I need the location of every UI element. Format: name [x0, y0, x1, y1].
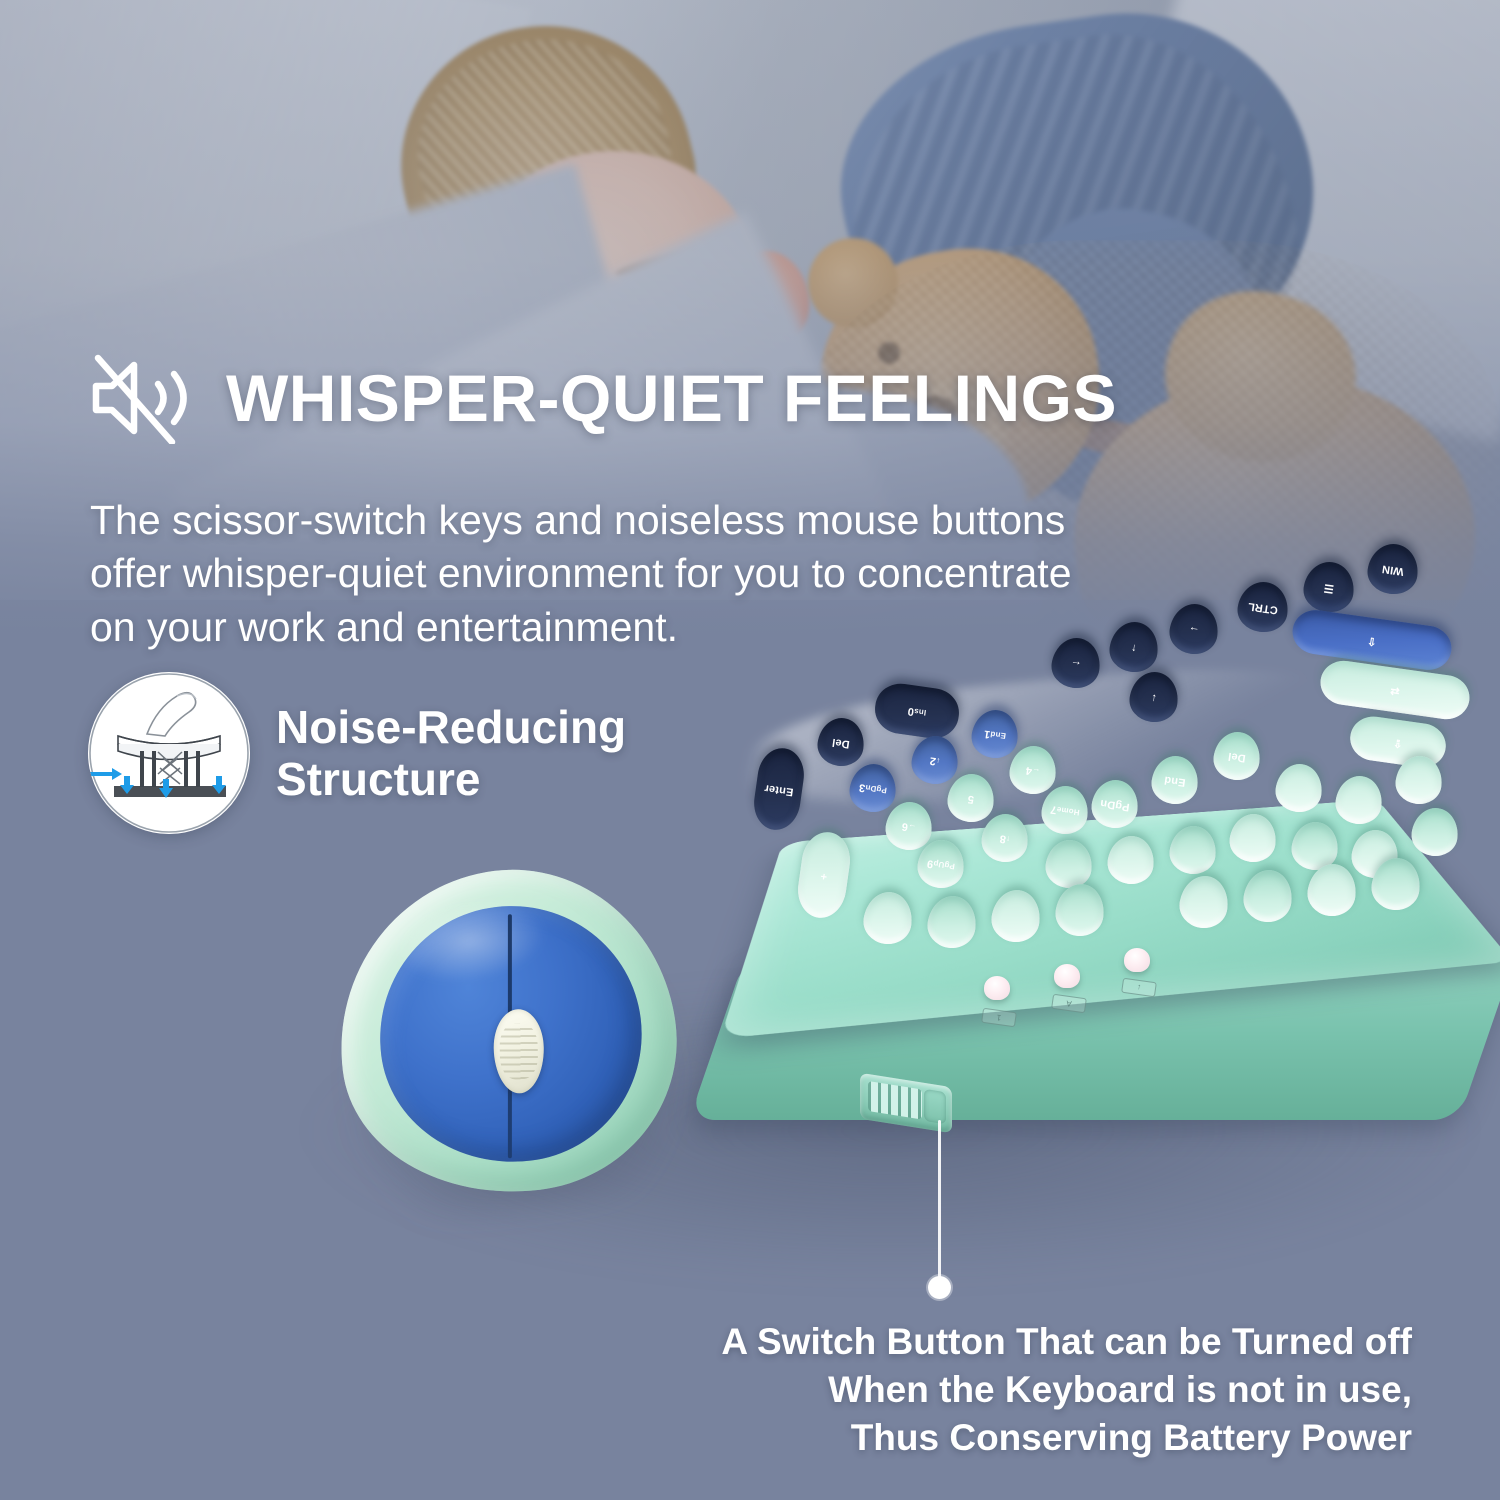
keycap-7[interactable]: Home7: [1039, 783, 1091, 837]
scroll-lock-led: [1124, 948, 1150, 972]
keycap-label: ⇄: [1390, 684, 1401, 697]
keycap-ctrl[interactable]: CTRL: [1235, 579, 1291, 635]
keycap-[interactable]: ☰: [1301, 559, 1357, 615]
keycap-blank[interactable]: [1105, 833, 1157, 887]
keycap-[interactable]: ⇧: [1290, 607, 1455, 673]
scroll-wheel-ridges: [499, 1023, 538, 1080]
keycap-label: End: [1164, 773, 1187, 787]
keycap-label: ⇧: [1367, 634, 1378, 647]
keycap-blank[interactable]: [925, 893, 980, 951]
keycap-[interactable]: →: [1167, 601, 1221, 657]
keycap-sublabel: →: [907, 822, 916, 831]
keycap-5[interactable]: 5: [945, 771, 997, 825]
keycap-label: ⇪: [1393, 736, 1404, 749]
keycap-blank[interactable]: [989, 887, 1044, 945]
noise-reducing-label: Noise-Reducing Structure: [276, 701, 626, 806]
keycap-blank[interactable]: [1409, 805, 1461, 859]
caps-lock-led: [1054, 964, 1080, 988]
keycap-blank[interactable]: [1177, 873, 1232, 931]
keycap-[interactable]: ←: [1049, 635, 1103, 691]
keycap-label: ←: [1070, 657, 1083, 670]
keycap-label: ☰: [1323, 581, 1335, 594]
power-switch-knob[interactable]: [924, 1089, 946, 1124]
mute-speaker-icon: [88, 352, 200, 444]
keycap-[interactable]: ↑: [1107, 619, 1161, 675]
callout-line-text: When the Keyboard is not in use,: [592, 1366, 1412, 1414]
scissor-switch-diagram-icon: [88, 672, 250, 834]
keycap-label: Del: [831, 735, 850, 749]
keycap-0[interactable]: Ins0: [872, 680, 962, 741]
keycap-sublabel: ↑: [1005, 834, 1010, 843]
keycap-label: Enter: [764, 781, 794, 796]
num-lock-led: [984, 976, 1010, 1000]
keycap-label: 5: [967, 792, 975, 804]
keycap-label: WIN: [1381, 562, 1404, 576]
keycap-sublabel: Home: [1056, 805, 1080, 817]
headline-row: WHISPER-QUIET FEELINGS: [88, 352, 1117, 444]
noise-reducing-feature: Noise-Reducing Structure: [88, 672, 626, 834]
wireless-mouse: [312, 841, 712, 1232]
keycap-win[interactable]: WIN: [1365, 541, 1421, 597]
keycap-pgdn[interactable]: PgDn: [1089, 777, 1141, 831]
noise-badge: [88, 672, 250, 834]
keycap-enter[interactable]: Enter: [751, 745, 808, 833]
keycap-end[interactable]: End: [1149, 753, 1201, 807]
keycap-label: CTRL: [1247, 599, 1278, 615]
keycap-8[interactable]: ↑8: [979, 811, 1031, 865]
noise-label-line: Structure: [276, 753, 626, 805]
keycap-blank[interactable]: [1333, 773, 1385, 827]
keycap-sublabel: ↓: [935, 756, 940, 765]
keycap-[interactable]: ↓: [1127, 669, 1181, 725]
keycap-del[interactable]: Del: [815, 715, 867, 769]
keycap-blank[interactable]: [1043, 837, 1095, 891]
callout-line-text: A Switch Button That can be Turned off: [592, 1318, 1412, 1366]
callout-line-text: Thus Conserving Battery Power: [592, 1414, 1412, 1462]
keycap-label: PgDn: [1100, 796, 1131, 812]
keycap-del[interactable]: Del: [1211, 729, 1263, 783]
keycap-[interactable]: +: [794, 829, 854, 921]
keycap-label: +: [820, 869, 828, 881]
page-title: WHISPER-QUIET FEELINGS: [226, 365, 1117, 431]
keycap-layer: EnterDelIns0End1↓2PgDn3←45→6Home7↑8PgUp9…: [700, 540, 1500, 1200]
wireless-keyboard: EnterDelIns0End1↓2PgDn3←45→6Home7↑8PgUp9…: [700, 540, 1500, 1200]
keycap-blank[interactable]: [1227, 811, 1279, 865]
keycap-label: →: [1188, 623, 1201, 636]
keycap-blank[interactable]: [1053, 881, 1108, 939]
keycap-2[interactable]: ↓2: [909, 733, 961, 787]
keycap-label: ↓: [1150, 691, 1157, 703]
keycap-blank[interactable]: [1241, 867, 1296, 925]
keycap-1[interactable]: End1: [969, 707, 1021, 761]
noise-label-line: Noise-Reducing: [276, 701, 626, 753]
callout-caption: A Switch Button That can be Turned off W…: [592, 1318, 1412, 1462]
keycap-label: ↑: [1130, 641, 1137, 653]
callout-line: [938, 1120, 941, 1280]
keycap-3[interactable]: PgDn3: [847, 761, 899, 815]
keycap-blank[interactable]: [1273, 761, 1325, 815]
keycap-blank[interactable]: [1167, 823, 1219, 877]
keycap-sublabel: PgUp: [933, 859, 956, 870]
keycap-sublabel: ←: [1031, 766, 1040, 775]
keycap-sublabel: End: [990, 729, 1007, 739]
keycap-blank[interactable]: [861, 889, 916, 947]
keycap-label: Del: [1227, 749, 1246, 763]
keycap-sublabel: Ins: [914, 706, 927, 716]
keycap-[interactable]: ⇄: [1318, 658, 1473, 722]
keycap-sublabel: PgDn: [865, 783, 888, 794]
keycap-4[interactable]: ←4: [1007, 743, 1059, 797]
callout-dot: [928, 1276, 951, 1299]
